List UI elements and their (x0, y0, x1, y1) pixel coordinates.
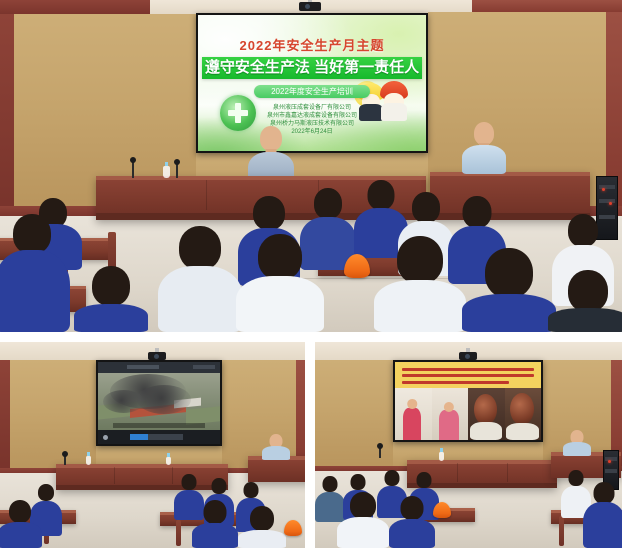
slide-org-line-3: 泉州桥力马斯液压技术有限公司 (198, 121, 426, 129)
audience-member-front (0, 500, 42, 548)
audience-head (250, 506, 274, 531)
slide-org-block: 泉州液压成套设备厂有限公司 泉州市鑫嘉达液成套设备有限公司 泉州桥力马斯液压技术… (198, 105, 426, 137)
audience-member-front (238, 506, 286, 548)
audience-head (204, 500, 227, 524)
slide-title: 2022年安全生产月主题 (198, 35, 426, 54)
audience-head (368, 180, 395, 210)
audience-member-front (583, 482, 622, 548)
audience-head (9, 500, 31, 523)
audience-torso (0, 522, 42, 548)
audience-member-front (374, 236, 466, 332)
rack-led-indicator (602, 188, 605, 191)
video-scene-factory-fire (98, 373, 220, 430)
audience-head (569, 470, 584, 486)
audience-head (92, 266, 130, 306)
audience-torso (74, 304, 148, 332)
water-bottle (86, 456, 91, 465)
wall-wood-left (315, 360, 393, 472)
audience-torso (158, 266, 242, 332)
audience-head (350, 492, 376, 519)
laptop-left (142, 164, 166, 179)
projector-screen: 2022年安全生产月主题 遵守安全生产法 当好第一责任人 2022年度安全生产培… (196, 13, 428, 153)
slide-photo-burn-1 (468, 388, 505, 440)
audience-head (385, 470, 400, 486)
child-figure (439, 410, 459, 440)
bottom-right-training-photo (315, 342, 622, 548)
burn-injury-detail (510, 393, 534, 425)
projector-screen-surface (98, 362, 220, 444)
audience-head (323, 476, 338, 492)
slide-header-band (395, 362, 541, 388)
officer-head (474, 122, 494, 145)
smoke-plume (103, 390, 144, 413)
slide-header-text-line (402, 368, 533, 371)
bandage-detail (506, 423, 539, 440)
slide-org-line-2: 泉州市鑫嘉达液成套设备有限公司 (198, 113, 426, 121)
slide-subtitle-pill: 2022年度安全生产培训 (254, 85, 370, 98)
ceiling-camera-icon (459, 352, 477, 360)
ceiling-camera-icon (148, 352, 166, 360)
slide-photo-strip (395, 388, 541, 440)
audience-head (253, 196, 285, 230)
audience-head (568, 214, 598, 247)
audience-head (412, 192, 440, 223)
audience-head (401, 496, 424, 520)
audience-torso (548, 308, 622, 332)
video-title-bar (127, 365, 159, 369)
smoke-plume (137, 385, 191, 414)
video-caption-bar (113, 423, 206, 428)
rack-shelf (605, 457, 617, 461)
laptop-right (452, 156, 486, 176)
gutter-horizontal (0, 332, 622, 342)
play-button-icon[interactable] (103, 435, 108, 440)
projector-screen (96, 360, 222, 446)
slide-banner: 遵守安全生产法 当好第一责任人 (202, 57, 422, 79)
audience-head (568, 270, 608, 312)
slide-photo-child-1 (395, 388, 432, 440)
chair-back (176, 520, 181, 546)
microphone-icon (132, 160, 134, 178)
audience-torso (389, 519, 435, 548)
water-bottle (166, 457, 171, 465)
audience-torso (337, 517, 389, 548)
child-figure (403, 408, 421, 440)
slide-date: 2022年6月24日 (198, 129, 426, 137)
audience-head (314, 188, 342, 219)
microphone-icon (64, 454, 66, 465)
audience-torso (374, 280, 466, 332)
microphone-icon (176, 162, 178, 178)
slide-banner-text: 遵守安全生产法 当好第一责任人 (202, 57, 422, 79)
ceiling-camera-icon (299, 2, 321, 11)
bottom-left-training-photo (0, 342, 305, 548)
slide-header-text-line (402, 374, 533, 377)
projector-screen-surface (395, 362, 541, 440)
audience-torso (583, 502, 622, 548)
gutter-vertical (305, 342, 315, 548)
microphone-icon (379, 446, 381, 458)
main-training-photo: 2022年安全生产月主题 遵守安全生产法 当好第一责任人 2022年度安全生产培… (0, 0, 622, 332)
audience-head (594, 482, 615, 504)
audience-member-front (158, 226, 242, 332)
slide-photo-burn-2 (505, 388, 542, 440)
desk-seam (172, 467, 173, 485)
video-toolbar[interactable] (98, 362, 220, 373)
audience-head (38, 484, 54, 501)
chair-back (559, 516, 564, 546)
rack-shelf (599, 199, 616, 203)
audience-member-front (192, 500, 238, 548)
audience-torso (238, 530, 286, 548)
audience-member-front (0, 214, 70, 332)
audience-member-front (74, 266, 148, 332)
desk-seam (457, 463, 458, 482)
audience-torso (192, 523, 238, 548)
water-bottle (439, 452, 444, 461)
audience-torso (462, 294, 556, 332)
slide-subtitle-text: 2022年度安全生产培训 (254, 85, 370, 98)
injury-case-slide (395, 362, 541, 440)
projector-screen (393, 360, 543, 442)
desk-top-edge (56, 464, 228, 468)
video-window-controls[interactable] (193, 365, 215, 368)
rack-led-indicator (609, 202, 612, 205)
wall-red-left (0, 360, 10, 474)
slide-org-line-1: 泉州液压成套设备厂有限公司 (198, 105, 426, 113)
audience-member-front (337, 492, 389, 548)
audience-head (463, 196, 492, 228)
wall-red-left (0, 14, 14, 218)
audience-member-front (548, 270, 622, 332)
audience-head (258, 234, 302, 280)
desk-seam (206, 180, 207, 210)
desk-seam (507, 463, 508, 482)
screenshot-root: 2022年安全生产月主题 遵守安全生产法 当好第一责任人 2022年度安全生产培… (0, 0, 622, 548)
audience-member-front (389, 496, 435, 548)
audience-head (182, 474, 197, 490)
rack-shelf (605, 469, 617, 473)
laptop-right (557, 442, 575, 453)
desk-top-edge (407, 460, 557, 464)
audience-torso (236, 276, 324, 332)
laptop-right (256, 446, 274, 457)
presenter-left-head (260, 126, 282, 151)
audience-head (351, 474, 366, 490)
audience-member-front (462, 248, 556, 332)
burn-injury-detail (474, 394, 497, 425)
audience-head (485, 248, 533, 298)
progress-bar[interactable] (130, 434, 184, 440)
video-player[interactable] (98, 362, 220, 444)
audience-head (397, 236, 443, 284)
slide-photo-child-2 (432, 388, 469, 440)
wall-wood-left (0, 360, 96, 474)
audience-head (212, 478, 227, 494)
audience-head (179, 226, 221, 270)
audience-head (13, 214, 51, 254)
audience-member-front (236, 234, 324, 332)
audience-torso (0, 250, 70, 332)
rack-led-indicator (608, 460, 611, 463)
audience-head (417, 472, 432, 488)
slide-header-text-line (402, 381, 509, 384)
video-controls[interactable] (98, 430, 220, 444)
audience-head (244, 482, 259, 498)
desk-seam (114, 467, 115, 485)
projector-screen-surface: 2022年安全生产月主题 遵守安全生产法 当好第一责任人 2022年度安全生产培… (198, 15, 426, 151)
bandage-detail (470, 422, 501, 440)
